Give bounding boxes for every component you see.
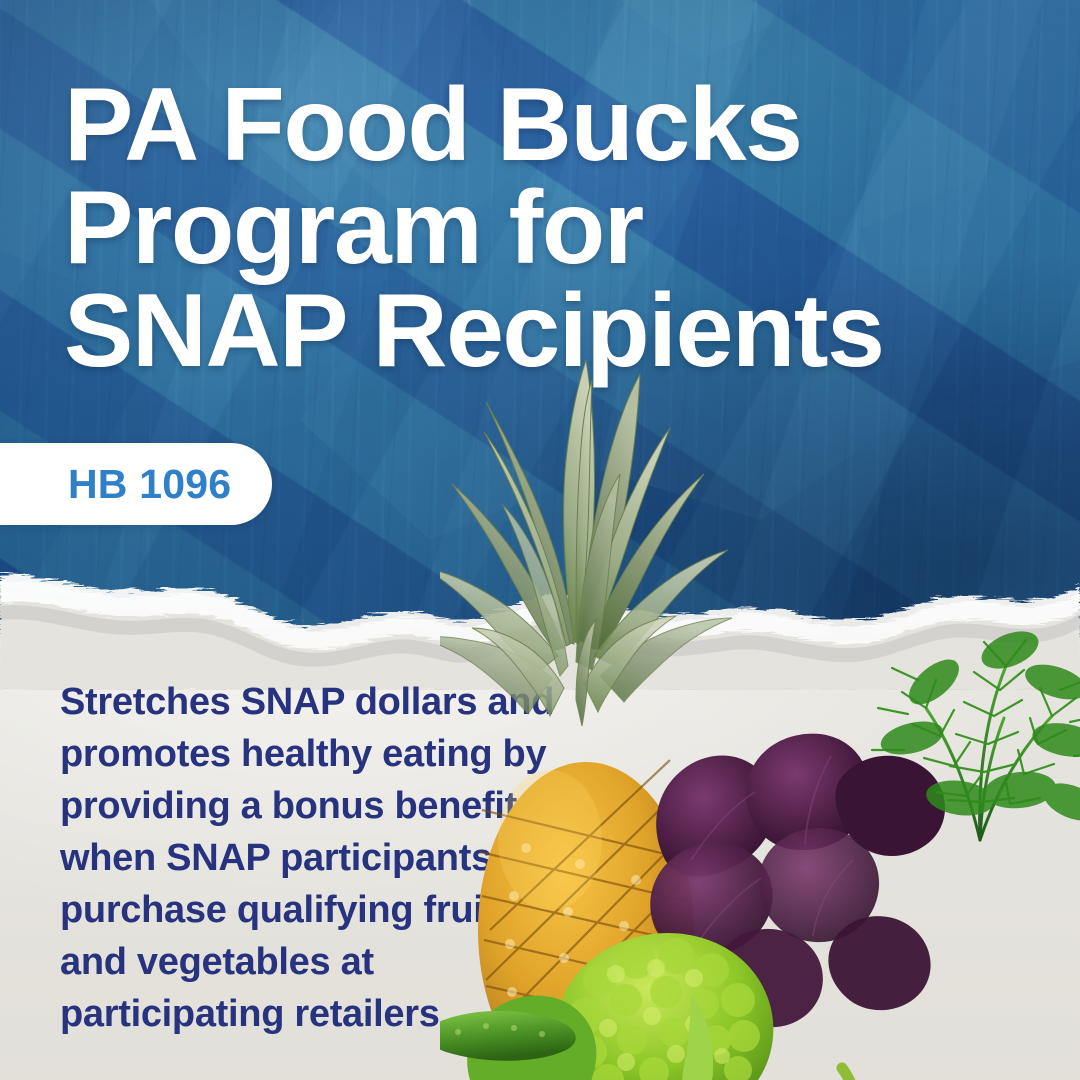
- title-line-1: PA Food Bucks: [64, 74, 1024, 177]
- fresh-produce-photo: [440, 340, 1080, 1080]
- red-bell-pepper-group: [754, 1068, 1048, 1080]
- poster-title: PA Food Bucks Program for SNAP Recipient…: [64, 74, 1024, 383]
- title-line-2: Program for: [64, 177, 1024, 280]
- pineapple-crown: [440, 360, 732, 726]
- bill-number-label: HB 1096: [68, 464, 231, 505]
- poster-canvas: PA Food Bucks Program for SNAP Recipient…: [0, 0, 1080, 1080]
- bill-number-badge: HB 1096: [0, 443, 272, 525]
